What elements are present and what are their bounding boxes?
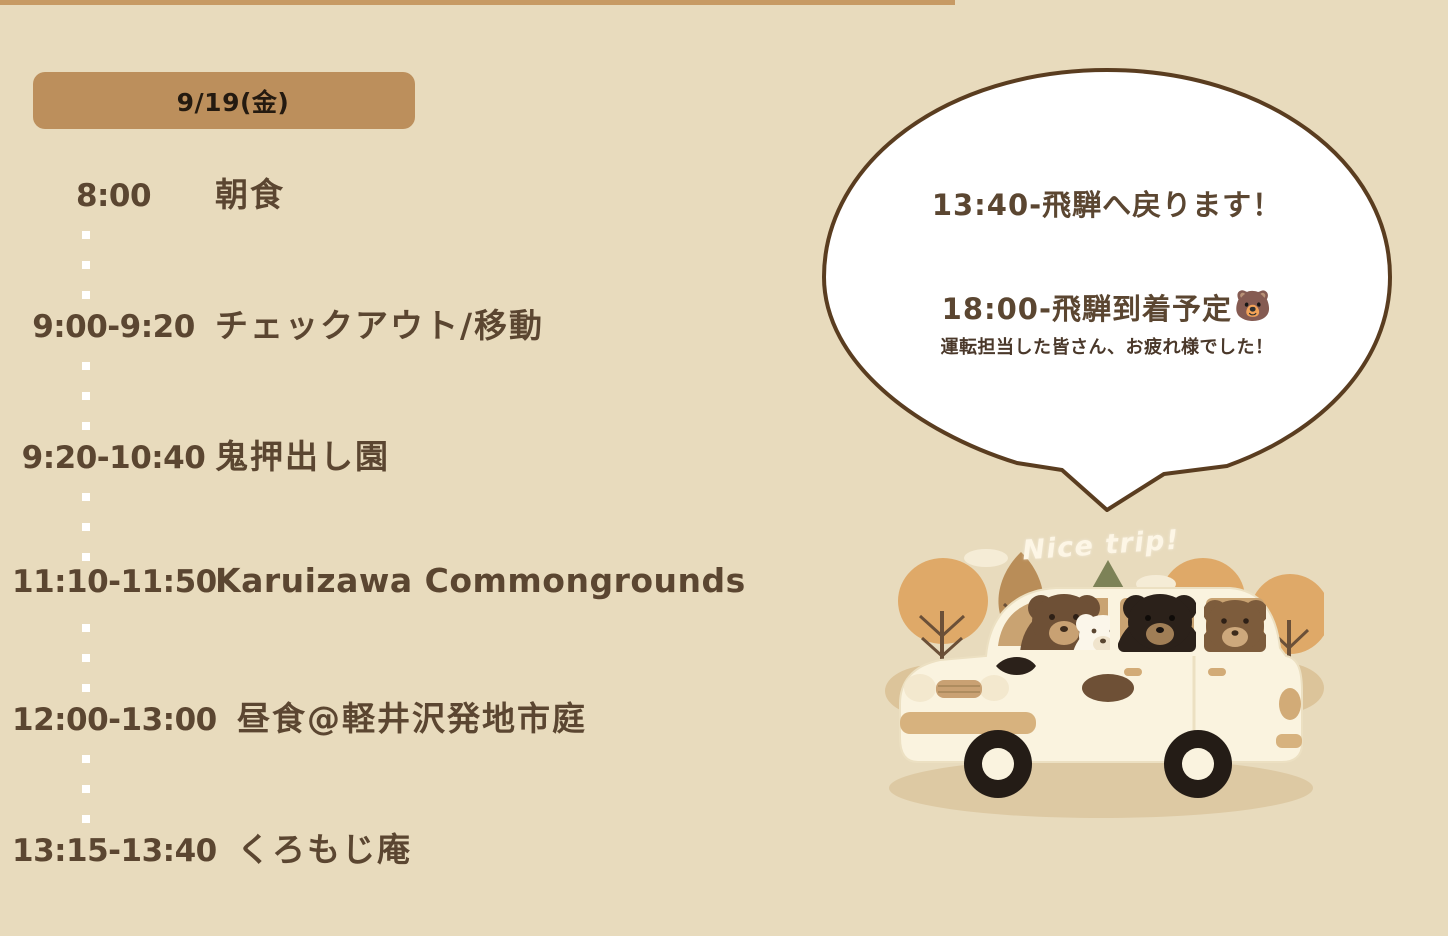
connector-dot (82, 654, 90, 662)
schedule-row-activity: くろもじ庵 (215, 823, 412, 871)
bubble-line-thanks: 運転担当した皆さん、お疲れ様でした！ (812, 333, 1402, 359)
grille (936, 680, 982, 698)
connector-dot (82, 624, 90, 632)
connector-dot (82, 523, 90, 531)
front-hub (982, 748, 1014, 780)
timeline-list: 8:00 朝食 9:00-9:20 チェックアウト/移動 9:20-10:40 … (0, 168, 830, 885)
speech-bubble: 13:40-飛騨へ戻ります！ 18:00-飛騨到着予定 🐻 運転担当した皆さん、… (812, 62, 1402, 512)
bears-car-illustration: Nice trip! (878, 516, 1324, 826)
schedule-row-time: 11:10-11:50 (0, 564, 215, 600)
ground-shadow (889, 758, 1313, 818)
timeline-connector (0, 623, 830, 692)
connector-dot (82, 291, 90, 299)
timeline-connector (0, 754, 830, 823)
headlight (979, 675, 1009, 701)
schedule-row: 13:15-13:40 くろもじ庵 (0, 823, 830, 885)
connector-dot (82, 493, 90, 501)
taillight (1279, 688, 1301, 720)
schedule-row: 8:00 朝食 (0, 168, 830, 230)
schedule-row-activity: 朝食 (215, 168, 285, 216)
bear-paw-window (1082, 674, 1134, 702)
bubble-line-departure: 13:40-飛騨へ戻ります！ (812, 182, 1402, 224)
schedule-row-activity: チェックアウト/移動 (215, 299, 544, 347)
date-badge-label: 9/19(金) (177, 83, 290, 119)
connector-dot (82, 392, 90, 400)
schedule-row-time: 8:00 (0, 178, 215, 214)
headlight (904, 674, 936, 702)
schedule-row-time: 9:00-9:20 (0, 309, 215, 345)
rear-bumper (1276, 734, 1302, 748)
connector-dot (82, 422, 90, 430)
schedule-row: 12:00-13:00 昼食@軽井沢発地市庭 (0, 692, 830, 754)
schedule-row: 9:00-9:20 チェックアウト/移動 (0, 299, 830, 361)
connector-dot (82, 684, 90, 692)
date-badge: 9/19(金) (33, 72, 415, 129)
connector-dot (82, 362, 90, 370)
door-handle (1208, 668, 1226, 676)
connector-dot (82, 815, 90, 823)
schedule-row-activity: Karuizawa Commongrounds (215, 561, 746, 600)
schedule-row: 9:20-10:40 鬼押出し園 (0, 430, 830, 492)
rear-hub (1182, 748, 1214, 780)
schedule-row-activity: 鬼押出し園 (215, 430, 390, 478)
connector-dot (82, 755, 90, 763)
door-handle (1124, 668, 1142, 676)
timeline-connector (0, 492, 830, 561)
schedule-row-time: 9:20-10:40 (0, 440, 215, 476)
connector-dot (82, 553, 90, 561)
schedule-row: 11:10-11:50 Karuizawa Commongrounds (0, 561, 830, 623)
speech-bubble-content: 13:40-飛騨へ戻ります！ 18:00-飛騨到着予定 🐻 運転担当した皆さん、… (812, 182, 1402, 359)
bubble-line-arrival: 18:00-飛騨到着予定 🐻 (812, 286, 1402, 328)
schedule-row-time: 12:00-13:00 (0, 702, 215, 738)
connector-dot (82, 785, 90, 793)
connector-dot (82, 261, 90, 269)
bear-face-icon: 🐻 (1234, 292, 1272, 322)
timeline-connector (0, 361, 830, 430)
front-bumper (900, 712, 1036, 734)
schedule-row-activity: 昼食@軽井沢発地市庭 (215, 692, 587, 740)
bubble-line-arrival-text: 18:00-飛騨到着予定 (942, 286, 1232, 328)
schedule-row-time: 13:15-13:40 (0, 833, 215, 869)
schedule-panel: 9/19(金) 8:00 朝食 9:00-9:20 チェックアウト/移動 9:2… (0, 0, 830, 936)
timeline-connector (0, 230, 830, 299)
connector-dot (82, 231, 90, 239)
